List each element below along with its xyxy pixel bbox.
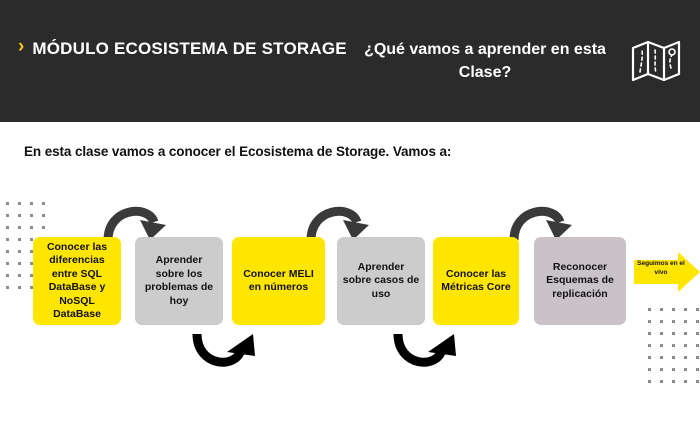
decorative-dot bbox=[30, 202, 33, 205]
flow-step-6[interactable]: Reconocer Esquemas de replicación bbox=[534, 237, 626, 325]
decorative-dot bbox=[684, 332, 687, 335]
section-subtitle: En esta clase vamos a conocer el Ecosist… bbox=[24, 144, 451, 159]
curved-arrow-step4-to-step5 bbox=[390, 330, 462, 383]
decorative-dot bbox=[672, 368, 675, 371]
decorative-dot bbox=[6, 226, 9, 229]
decorative-dot bbox=[696, 332, 699, 335]
decorative-dot bbox=[648, 368, 651, 371]
decorative-dot bbox=[648, 320, 651, 323]
decorative-dot bbox=[696, 308, 699, 311]
decorative-dot bbox=[696, 344, 699, 347]
decorative-dot bbox=[18, 238, 21, 241]
decorative-dot bbox=[672, 320, 675, 323]
flow-step-5[interactable]: Conocer las Métricas Core bbox=[433, 237, 519, 325]
page-header: › MÓDULO ECOSISTEMA DE STORAGE ¿Qué vamo… bbox=[0, 0, 700, 122]
decorative-dot-grid-right bbox=[648, 308, 700, 383]
flow-step-2[interactable]: Aprender sobre los problemas de hoy bbox=[135, 237, 223, 325]
decorative-dot bbox=[18, 226, 21, 229]
decorative-dot bbox=[672, 308, 675, 311]
flow-step-1[interactable]: Conocer las diferencias entre SQL DataBa… bbox=[33, 237, 121, 325]
decorative-dot bbox=[672, 356, 675, 359]
decorative-dot bbox=[648, 380, 651, 383]
decorative-dot bbox=[684, 344, 687, 347]
decorative-dot bbox=[684, 380, 687, 383]
chevron-right-icon: › bbox=[18, 36, 24, 58]
decorative-dot bbox=[30, 226, 33, 229]
decorative-dot bbox=[696, 380, 699, 383]
decorative-dot bbox=[6, 262, 9, 265]
decorative-dot bbox=[696, 356, 699, 359]
decorative-dot bbox=[18, 262, 21, 265]
decorative-dot bbox=[660, 368, 663, 371]
folded-map-icon bbox=[631, 38, 681, 84]
decorative-dot bbox=[684, 368, 687, 371]
decorative-dot bbox=[42, 226, 45, 229]
decorative-dot bbox=[660, 356, 663, 359]
decorative-dot bbox=[6, 286, 9, 289]
decorative-dot bbox=[648, 344, 651, 347]
decorative-dot bbox=[696, 368, 699, 371]
decorative-dot bbox=[6, 250, 9, 253]
decorative-dot bbox=[18, 202, 21, 205]
lesson-question: ¿Qué vamos a aprender en esta Clase? bbox=[360, 38, 610, 84]
decorative-dot bbox=[18, 214, 21, 217]
decorative-dot bbox=[648, 308, 651, 311]
decorative-dot bbox=[6, 202, 9, 205]
decorative-dot bbox=[660, 308, 663, 311]
decorative-dot bbox=[660, 344, 663, 347]
decorative-dot bbox=[660, 332, 663, 335]
decorative-dot bbox=[6, 214, 9, 217]
decorative-dot bbox=[18, 250, 21, 253]
decorative-dot bbox=[42, 202, 45, 205]
decorative-dot bbox=[42, 214, 45, 217]
decorative-dot bbox=[6, 238, 9, 241]
decorative-dot bbox=[684, 356, 687, 359]
decorative-dot bbox=[672, 332, 675, 335]
decorative-dot bbox=[684, 320, 687, 323]
decorative-dot bbox=[18, 286, 21, 289]
module-title-block: › MÓDULO ECOSISTEMA DE STORAGE bbox=[18, 36, 348, 61]
module-title: MÓDULO ECOSISTEMA DE STORAGE bbox=[32, 36, 346, 61]
decorative-dot bbox=[6, 274, 9, 277]
decorative-dot bbox=[648, 332, 651, 335]
decorative-dot bbox=[672, 380, 675, 383]
decorative-dot bbox=[684, 308, 687, 311]
end-banner-label: Seguimos en el vivo bbox=[637, 260, 685, 277]
decorative-dot bbox=[672, 344, 675, 347]
decorative-dot bbox=[30, 214, 33, 217]
decorative-dot bbox=[660, 380, 663, 383]
decorative-dot bbox=[18, 274, 21, 277]
decorative-dot bbox=[660, 320, 663, 323]
flow-step-4[interactable]: Aprender sobre casos de uso bbox=[337, 237, 425, 325]
decorative-dot bbox=[648, 356, 651, 359]
flow-step-3[interactable]: Conocer MELI en números bbox=[232, 237, 325, 325]
curved-arrow-step2-to-step3 bbox=[189, 330, 261, 383]
decorative-dot bbox=[696, 320, 699, 323]
